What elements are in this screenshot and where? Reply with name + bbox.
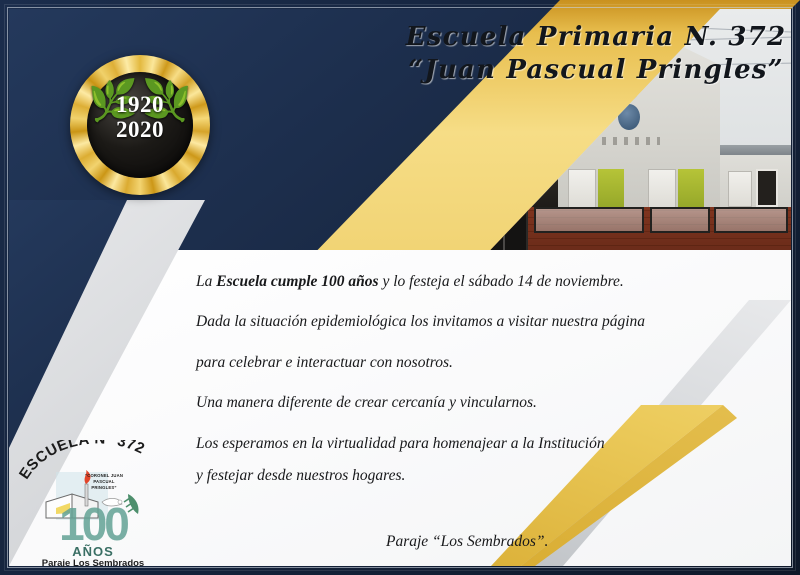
body-line-1-bold: Escuela cumple 100 años — [216, 273, 378, 290]
body-line-2: Dada la situación epidemiológica los inv… — [196, 312, 776, 331]
gable-lettering — [602, 137, 660, 145]
door-green-left — [598, 169, 624, 211]
logo-paraje-label: Paraje Los Sembrados — [18, 558, 168, 569]
fence-railing-4 — [650, 207, 710, 233]
page-title: Escuela Primaria N. 372 “Juan Pascual Pr… — [400, 22, 792, 85]
medal-years: 1920 2020 — [70, 93, 210, 143]
medal-year-from: 1920 — [70, 93, 210, 118]
fence-railing-5 — [714, 207, 788, 233]
window-right-1 — [728, 171, 752, 207]
anniversary-medal-badge: 🌿 🌿 1920 2020 — [70, 55, 210, 195]
body-line-4: Una manera diferente de crear cercanía y… — [196, 393, 776, 412]
body-line-3: para celebrar e interactuar con nosotros… — [196, 353, 776, 372]
logo-anos-label: AÑOS — [18, 544, 168, 559]
logo-anniversary-number: 100 — [26, 498, 160, 550]
school-logo: ESCUELA Nº 372 “CORONEL JUAN PASCUAL PRI… — [18, 440, 168, 568]
window-right-2 — [756, 169, 778, 207]
medal-year-to: 2020 — [70, 118, 210, 143]
announcement-body: La Escuela cumple 100 años y lo festeja … — [196, 272, 776, 506]
door-green-right — [678, 169, 704, 211]
logo-motto-text: “CORONEL JUAN PASCUAL PRINGLES” — [84, 473, 124, 491]
window-center-left — [568, 169, 596, 209]
poster-canvas: 🌿 🌿 1920 2020 Escuela Primaria N. 372 “J… — [0, 0, 800, 575]
title-line-1: Escuela Primaria N. 372 — [400, 22, 792, 52]
signature-line: Paraje “Los Sembrados”. — [386, 533, 548, 551]
body-line-1-suffix: y lo festeja el sábado 14 de noviembre. — [379, 273, 624, 290]
body-line-1: La Escuela cumple 100 años y lo festeja … — [196, 272, 776, 291]
title-line-2: “Juan Pascual Pringles” — [400, 55, 792, 85]
roof-right — [716, 145, 791, 155]
window-center-right — [648, 169, 676, 209]
body-line-5: Los esperamos en la virtualidad para hom… — [196, 434, 776, 453]
body-line-1-prefix: La — [196, 273, 216, 290]
body-line-6: y festejar desde nuestros hogares. — [196, 466, 776, 485]
fence-railing-3 — [534, 207, 644, 233]
